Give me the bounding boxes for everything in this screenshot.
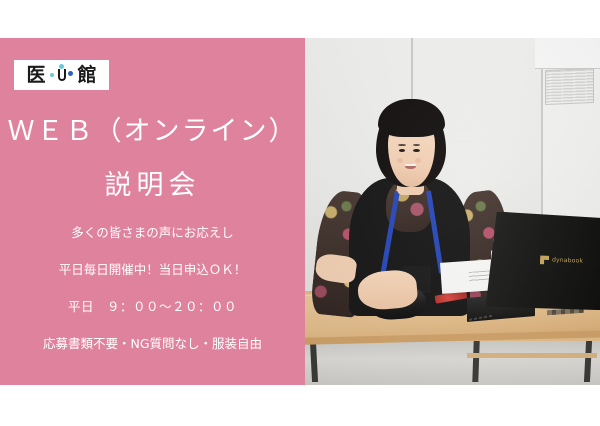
cheek-right bbox=[415, 158, 421, 163]
desk-crossbar bbox=[467, 353, 597, 358]
copy-line-3: 平日 ９：００〜２０：００ bbox=[0, 300, 305, 313]
pink-info-panel: 医 館 ＷＥＢ（オンライン） 説明会 多くの皆さまの声にお応えし 平日毎日開催中… bbox=[0, 38, 305, 385]
banner-heading-main: ＷＥＢ（オンライン） bbox=[0, 116, 305, 146]
ishinkan-logo: 医 館 bbox=[14, 60, 109, 90]
ceiling-soffit bbox=[535, 38, 600, 69]
head bbox=[376, 99, 445, 195]
laptop-lid: dynabook bbox=[486, 212, 600, 311]
copy-line-2: 平日毎日開催中！当日申込ＯＫ！ bbox=[0, 263, 305, 276]
desk-underside bbox=[305, 341, 600, 385]
eyebrow-right bbox=[413, 144, 421, 146]
banner-copy-list: 多くの皆さまの声にお応えし 平日毎日開催中！当日申込ＯＫ！ 平日 ９：００〜２０… bbox=[0, 226, 305, 350]
smiling-mouth bbox=[405, 164, 416, 169]
eye-right bbox=[413, 149, 420, 152]
logo-kokoro-icon bbox=[49, 64, 75, 86]
copy-line-4: 応募書類不要・NG質問なし・服装自由 bbox=[0, 337, 305, 350]
laptop: dynabook bbox=[467, 212, 600, 320]
kokoro-stroke bbox=[58, 69, 66, 81]
banner-heading-sub: 説明会 bbox=[0, 170, 305, 200]
dynabook-wordmark: dynabook bbox=[552, 258, 583, 265]
cheek-left bbox=[397, 158, 403, 163]
eye-left bbox=[399, 149, 406, 152]
logo-kanji-right: 館 bbox=[78, 66, 97, 85]
air-vent-icon bbox=[545, 68, 594, 105]
event-banner: 医 館 ＷＥＢ（オンライン） 説明会 多くの皆さまの声にお応えし 平日毎日開催中… bbox=[0, 38, 600, 385]
dynabook-mark-icon bbox=[540, 256, 549, 265]
copy-line-1: 多くの皆さまの声にお応えし bbox=[0, 226, 305, 239]
kokoro-dot-blue-right bbox=[68, 71, 73, 76]
logo-kanji-left: 医 bbox=[26, 66, 45, 85]
kokoro-dot-teal-left bbox=[50, 73, 54, 77]
event-photo: dynabook bbox=[305, 38, 600, 385]
hair-fringe bbox=[378, 99, 445, 137]
dynabook-logo: dynabook bbox=[540, 254, 591, 268]
eyebrow-left bbox=[398, 144, 406, 146]
